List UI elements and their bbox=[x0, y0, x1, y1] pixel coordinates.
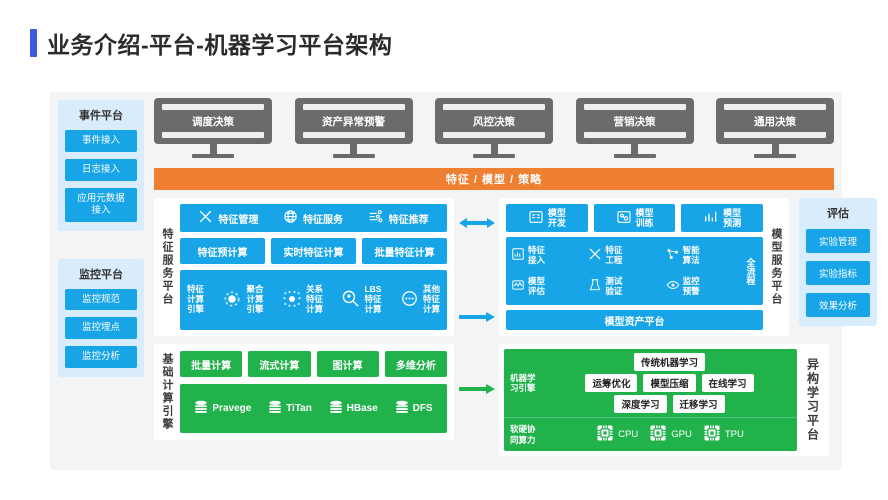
tag-transfer-learning[interactable]: 迁移学习 bbox=[673, 395, 725, 413]
monitor-alert-label: 监控 预警 bbox=[683, 277, 700, 297]
feature-management-label: 特征管理 bbox=[218, 211, 258, 226]
other-feature-compute[interactable]: 其他 特征 计算 bbox=[400, 285, 440, 314]
feature-service-platform: 特征服务平台 特征管理 bbox=[154, 198, 454, 336]
tag-row-0: 传统机器学习 bbox=[634, 353, 705, 371]
feature-recommendation[interactable]: 特征推荐 bbox=[368, 209, 429, 227]
monitor-label-4: 通用决策 bbox=[754, 114, 796, 129]
tag-operations-optimization[interactable]: 运筹优化 bbox=[585, 374, 637, 392]
store-pravege-label: Pravege bbox=[212, 403, 251, 414]
store-titan-label: TiTan bbox=[286, 403, 312, 414]
model-top-row: 模型 开发 模型 训练 bbox=[506, 204, 763, 232]
base-to-hetero-arrow bbox=[459, 382, 495, 396]
feature-ingest-label: 特征 接入 bbox=[528, 246, 545, 266]
monitor-foot bbox=[192, 154, 234, 158]
model-capability-grid: 特征 接入 特征 工程 bbox=[506, 237, 763, 305]
chip-cpu[interactable]: CPU bbox=[595, 423, 638, 446]
feature-compute-engine: 特征 计算 引擎 bbox=[187, 285, 204, 314]
monitor-label-1: 资产异常预警 bbox=[322, 114, 385, 129]
evaluation-panel: 评估 实验管理 实验指标 效果分析 bbox=[799, 198, 877, 326]
monitor-3[interactable]: 营销决策 bbox=[576, 98, 694, 158]
decision-monitor-row: 调度决策 资产异常预警 风控决策 营销决策 通用决策 bbox=[154, 98, 834, 164]
network-icon bbox=[368, 209, 384, 227]
monitor-neck bbox=[772, 144, 779, 154]
other-feature-compute-label: 其他 特征 计算 bbox=[423, 285, 440, 314]
globe-icon bbox=[283, 209, 298, 227]
model-prediction[interactable]: 模型 预测 bbox=[681, 204, 763, 232]
tag-row-2: 深度学习 迁移学习 bbox=[614, 395, 724, 413]
feature-platform-vlabel: 特征服务平台 bbox=[154, 198, 180, 336]
model-service-platform: 模型 开发 模型 训练 bbox=[499, 198, 789, 336]
nodes-icon bbox=[666, 247, 680, 264]
test-validation-label: 测试 验证 bbox=[605, 277, 622, 297]
test-validation[interactable]: 测试 验证 bbox=[588, 272, 663, 301]
event-platform-item-0[interactable]: 事件接入 bbox=[65, 130, 137, 152]
batch-compute[interactable]: 批量计算 bbox=[180, 351, 242, 377]
database-icon bbox=[268, 400, 282, 418]
relation-feature-compute[interactable]: 关系 特征 计算 bbox=[282, 285, 323, 314]
feature-mid-row: 特征预计算 实时特征计算 批量特征计算 bbox=[180, 238, 447, 264]
monitor-foot bbox=[473, 154, 515, 158]
monitor-4[interactable]: 通用决策 bbox=[716, 98, 834, 158]
aggregate-compute-engine-label: 聚合 计算 引擎 bbox=[246, 285, 263, 314]
model-training[interactable]: 模型 训练 bbox=[594, 204, 676, 232]
evaluation-item-0[interactable]: 实验管理 bbox=[806, 229, 870, 253]
monitor-label-2: 风控决策 bbox=[473, 114, 515, 129]
store-titan[interactable]: TiTan bbox=[268, 400, 312, 418]
bidirectional-arrow bbox=[459, 216, 495, 230]
monitor-neck bbox=[350, 144, 357, 154]
feature-service[interactable]: 特征服务 bbox=[283, 209, 343, 227]
gear-ring-icon bbox=[222, 289, 242, 312]
compute-power-label: 软硬协 同算力 bbox=[510, 424, 548, 444]
event-platform-item-2[interactable]: 应用元数据 接入 bbox=[65, 188, 137, 222]
monitor-0[interactable]: 调度决策 bbox=[154, 98, 272, 158]
magnifier-location-icon bbox=[341, 289, 360, 311]
chart-up-icon bbox=[703, 209, 719, 227]
model-training-label: 模型 训练 bbox=[636, 208, 654, 229]
code-window-icon bbox=[528, 209, 544, 227]
tag-row-1: 运筹优化 模型压缩 在线学习 bbox=[585, 374, 753, 392]
base-compute-platform: 基础计算引擎 批量计算 流式计算 图计算 多维分析 bbox=[154, 344, 454, 440]
import-bars-icon bbox=[511, 247, 525, 264]
model-evaluation-label: 模型 评估 bbox=[528, 277, 545, 297]
feature-engineering[interactable]: 特征 工程 bbox=[588, 241, 663, 270]
tag-deep-learning[interactable]: 深度学习 bbox=[614, 395, 666, 413]
title-text: 业务介绍-平台-机器学习平台架构 bbox=[47, 26, 392, 60]
model-asset-platform-bar[interactable]: 模型资产平台 bbox=[506, 310, 763, 330]
monitor-platform-item-0[interactable]: 监控规范 bbox=[65, 289, 137, 311]
graph-compute[interactable]: 图计算 bbox=[317, 351, 379, 377]
chip-tpu-label: TPU bbox=[725, 429, 744, 440]
monitor-2[interactable]: 风控决策 bbox=[435, 98, 553, 158]
store-dfs[interactable]: DFS bbox=[395, 400, 433, 418]
evaluation-item-1[interactable]: 实验指标 bbox=[806, 261, 870, 285]
feature-precompute[interactable]: 特征预计算 bbox=[180, 238, 265, 264]
monitor-label-0: 调度决策 bbox=[192, 114, 234, 129]
monitor-alert[interactable]: 监控 预警 bbox=[666, 272, 741, 301]
platform-band: 特征服务平台 特征管理 bbox=[154, 198, 834, 338]
database-icon bbox=[194, 400, 208, 418]
feature-engine-row: 特征 计算 引擎 聚合 计算 引擎 bbox=[180, 270, 447, 330]
full-process-vlabel: 全流程 bbox=[744, 241, 758, 301]
ml-engine-label: 机器学 习引擎 bbox=[510, 373, 548, 393]
feature-management[interactable]: 特征管理 bbox=[198, 209, 258, 227]
event-platform-item-1[interactable]: 日志接入 bbox=[65, 159, 137, 181]
tag-online-learning[interactable]: 在线学习 bbox=[702, 374, 754, 392]
monitor-neck bbox=[631, 144, 638, 154]
multidim-analysis[interactable]: 多维分析 bbox=[385, 351, 447, 377]
compute-power-section: 软硬协 同算力 CPU bbox=[504, 417, 797, 451]
ellipsis-circle-icon bbox=[400, 289, 419, 311]
hetero-platform-vlabel: 异构学习平台 bbox=[797, 344, 829, 456]
dots-burst-icon bbox=[282, 289, 302, 312]
feature-realtime-compute[interactable]: 实时特征计算 bbox=[271, 238, 356, 264]
tpu-chip-icon bbox=[702, 423, 722, 446]
feature-batch-compute[interactable]: 批量特征计算 bbox=[362, 238, 447, 264]
aggregate-compute-engine[interactable]: 聚合 计算 引擎 bbox=[222, 285, 263, 314]
event-platform-title: 事件平台 bbox=[65, 107, 137, 123]
monitor-platform-item-2[interactable]: 监控分析 bbox=[65, 346, 137, 368]
evaluation-item-2[interactable]: 效果分析 bbox=[806, 293, 870, 317]
chip-gpu[interactable]: GPU bbox=[648, 423, 692, 446]
ml-engine-section: 机器学 习引擎 传统机器学习 运筹优化 模型压缩 在线学习 深度学习 迁移学习 bbox=[504, 349, 797, 417]
left-column: 事件平台 事件接入 日志接入 应用元数据 接入 监控平台 监控规范 监控埋点 监… bbox=[58, 100, 144, 387]
tag-traditional-ml[interactable]: 传统机器学习 bbox=[634, 353, 705, 371]
stream-compute[interactable]: 流式计算 bbox=[248, 351, 310, 377]
model-development-label: 模型 开发 bbox=[548, 208, 566, 229]
monitor-label-3: 营销决策 bbox=[614, 114, 656, 129]
model-prediction-label: 模型 预测 bbox=[723, 208, 741, 229]
train-graph-icon bbox=[616, 209, 632, 227]
store-pravege[interactable]: Pravege bbox=[194, 400, 251, 418]
title-accent-bar bbox=[30, 29, 37, 57]
model-development[interactable]: 模型 开发 bbox=[506, 204, 588, 232]
gpu-chip-icon bbox=[648, 423, 668, 446]
store-dfs-label: DFS bbox=[413, 403, 433, 414]
evaluation-title: 评估 bbox=[806, 205, 870, 221]
monitor-foot bbox=[614, 154, 656, 158]
tools-icon bbox=[198, 209, 213, 227]
tag-model-compression[interactable]: 模型压缩 bbox=[643, 374, 695, 392]
feature-recommendation-label: 特征推荐 bbox=[389, 211, 429, 226]
intelligent-algorithm[interactable]: 智能 算法 bbox=[666, 241, 741, 270]
feature-ingest[interactable]: 特征 接入 bbox=[511, 241, 586, 270]
cpu-chip-icon bbox=[595, 423, 615, 446]
chip-cpu-label: CPU bbox=[618, 429, 638, 440]
monitor-platform-item-1[interactable]: 监控埋点 bbox=[65, 317, 137, 339]
monitor-1[interactable]: 资产异常预警 bbox=[295, 98, 413, 158]
storage-row: Pravege TiTan bbox=[180, 384, 447, 433]
chip-gpu-label: GPU bbox=[671, 429, 692, 440]
store-hbase-label: HBase bbox=[347, 403, 378, 414]
store-hbase[interactable]: HBase bbox=[329, 400, 378, 418]
feature-service-label: 特征服务 bbox=[303, 211, 343, 226]
database-icon bbox=[395, 400, 409, 418]
architecture-diagram: 事件平台 事件接入 日志接入 应用元数据 接入 监控平台 监控规范 监控埋点 监… bbox=[50, 92, 842, 470]
infrastructure-band: 基础计算引擎 批量计算 流式计算 图计算 多维分析 bbox=[154, 344, 834, 462]
monitor-foot bbox=[754, 154, 796, 158]
feature-engineering-label: 特征 工程 bbox=[605, 246, 622, 266]
feature-top-row: 特征管理 特征服务 bbox=[180, 204, 447, 232]
chip-tpu[interactable]: TPU bbox=[702, 423, 744, 446]
lbs-feature-compute[interactable]: LBS 特征 计算 bbox=[341, 285, 381, 314]
model-evaluation[interactable]: 模型 评估 bbox=[511, 272, 586, 301]
pulse-icon bbox=[511, 278, 525, 295]
page-title: 业务介绍-平台-机器学习平台架构 bbox=[30, 26, 392, 60]
monitor-neck bbox=[491, 144, 498, 154]
feature-to-model-arrow bbox=[459, 310, 495, 324]
base-platform-vlabel: 基础计算引擎 bbox=[154, 344, 180, 440]
monitor-neck bbox=[210, 144, 217, 154]
model-platform-vlabel: 模型服务平台 bbox=[763, 198, 789, 336]
heterogeneous-learning-platform: 机器学 习引擎 传统机器学习 运筹优化 模型压缩 在线学习 深度学习 迁移学习 bbox=[499, 344, 829, 456]
base-compute-row: 批量计算 流式计算 图计算 多维分析 bbox=[180, 351, 447, 377]
event-platform-panel: 事件平台 事件接入 日志接入 应用元数据 接入 bbox=[58, 100, 144, 231]
eye-icon bbox=[666, 278, 680, 295]
database-icon bbox=[329, 400, 343, 418]
monitor-platform-title: 监控平台 bbox=[65, 266, 137, 282]
monitor-platform-panel: 监控平台 监控规范 监控埋点 监控分析 bbox=[58, 259, 144, 378]
lbs-feature-compute-label: LBS 特征 计算 bbox=[364, 285, 381, 314]
feature-compute-engine-label: 特征 计算 引擎 bbox=[187, 285, 204, 314]
monitor-foot bbox=[333, 154, 375, 158]
intelligent-algorithm-label: 智能 算法 bbox=[683, 246, 700, 266]
feature-model-strategy-banner: 特征 / 模型 / 策略 bbox=[154, 168, 834, 190]
flask-icon bbox=[588, 278, 602, 295]
relation-feature-compute-label: 关系 特征 计算 bbox=[306, 285, 323, 314]
tools-icon bbox=[588, 247, 602, 264]
